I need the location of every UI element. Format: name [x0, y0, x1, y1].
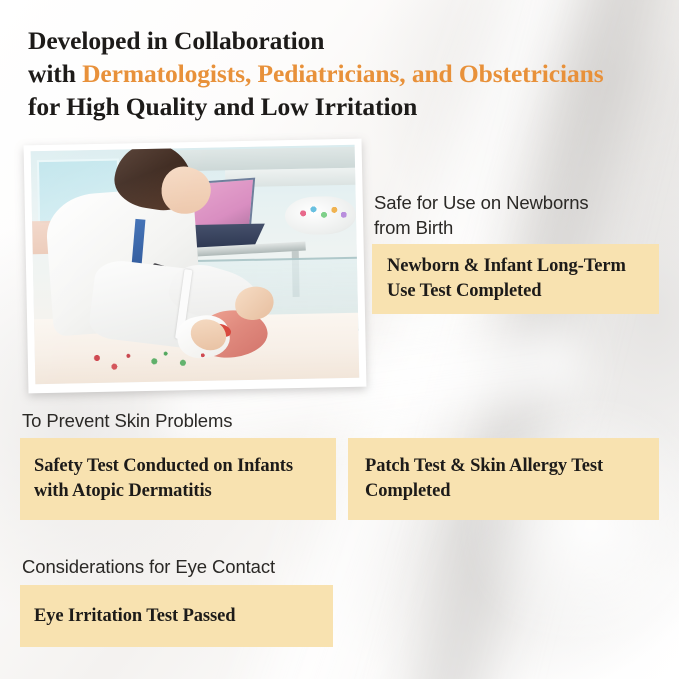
claim-text-patch-test: Patch Test & Skin Allergy Test Completed	[365, 454, 603, 504]
claim-box-patch-test: Patch Test & Skin Allergy Test Completed	[348, 438, 659, 520]
claim-text-eye-irritation: Eye Irritation Test Passed	[34, 604, 235, 629]
page-title: Developed in Collaboration with Dermatol…	[28, 24, 668, 123]
headline-line-2-prefix: with	[28, 59, 82, 88]
headline-line-3: for High Quality and Low Irritation	[28, 90, 668, 123]
headline-specialists-accent: Dermatologists, Pediatricians, and Obste…	[82, 59, 603, 88]
product-claims-poster: Developed in Collaboration with Dermatol…	[0, 0, 679, 679]
claim-box-newborn: Newborn & Infant Long-Term Use Test Comp…	[372, 244, 659, 314]
claim-box-atopic-dermatitis: Safety Test Conducted on Infants with At…	[20, 438, 336, 520]
claim-text-newborn: Newborn & Infant Long-Term Use Test Comp…	[387, 254, 626, 304]
claim-box-eye-irritation: Eye Irritation Test Passed	[20, 585, 333, 647]
headline-line-2: with Dermatologists, Pediatricians, and …	[28, 57, 668, 90]
section-label-skin-problems: To Prevent Skin Problems	[22, 408, 232, 433]
neonatal-care-photo	[31, 145, 360, 384]
photo-light-sheen	[31, 145, 360, 384]
section-label-newborn: Safe for Use on Newborns from Birth	[374, 190, 589, 240]
section-label-eye-contact: Considerations for Eye Contact	[22, 554, 275, 579]
neonatal-care-photo-frame	[24, 139, 367, 394]
claim-text-atopic-dermatitis: Safety Test Conducted on Infants with At…	[34, 454, 293, 504]
headline-line-1: Developed in Collaboration	[28, 24, 668, 57]
